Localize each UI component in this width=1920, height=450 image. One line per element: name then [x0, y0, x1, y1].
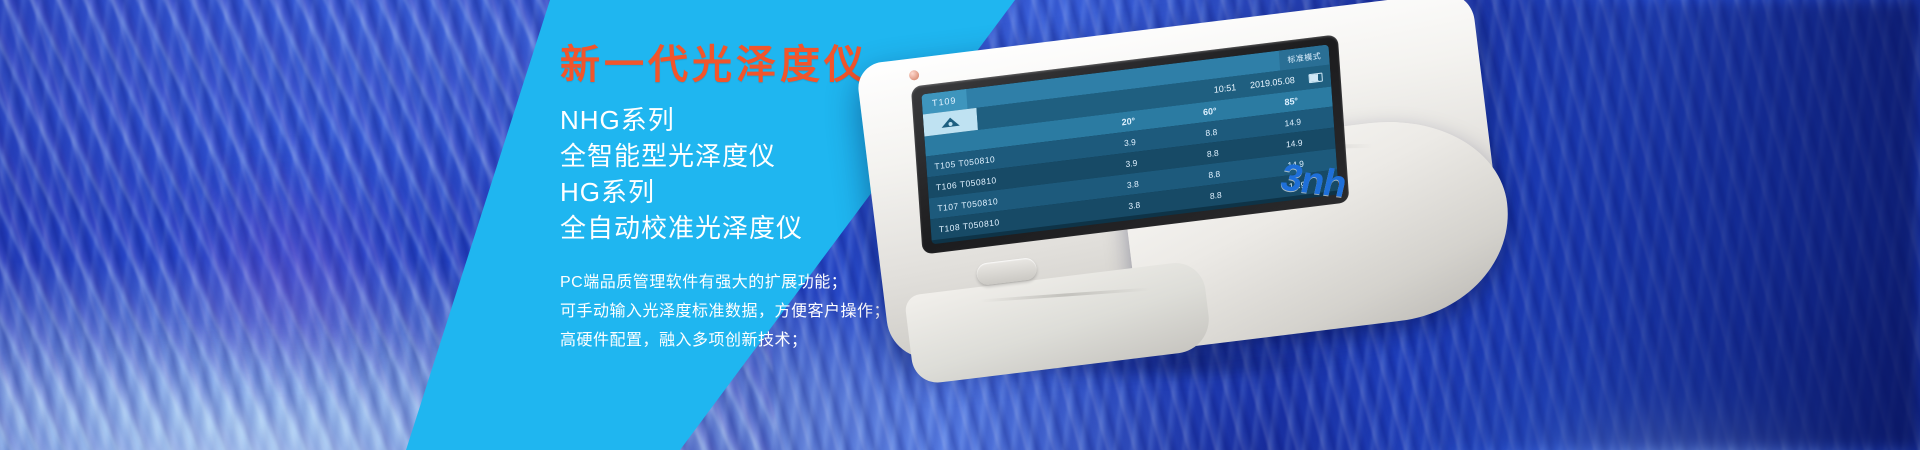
- measure-icon-glyph: [939, 114, 962, 131]
- lcd-time: 10:51: [1213, 82, 1236, 95]
- lcd-date: 2019.05.08: [1250, 75, 1295, 90]
- product-device: T109 标准模式 10:51 2019.05.08: [870, 10, 1570, 430]
- device-body: T109 标准模式 10:51 2019.05.08: [855, 0, 1534, 423]
- battery-icon: [1308, 72, 1323, 83]
- row-value-20deg: 3.8: [1093, 195, 1175, 215]
- brand-logo: 3nh: [1276, 157, 1350, 207]
- row-value-60deg: 8.8: [1175, 185, 1257, 205]
- product-banner: 新一代光泽度仪 NHG系列 全智能型光泽度仪 HG系列 全自动校准光泽度仪 PC…: [0, 0, 1920, 450]
